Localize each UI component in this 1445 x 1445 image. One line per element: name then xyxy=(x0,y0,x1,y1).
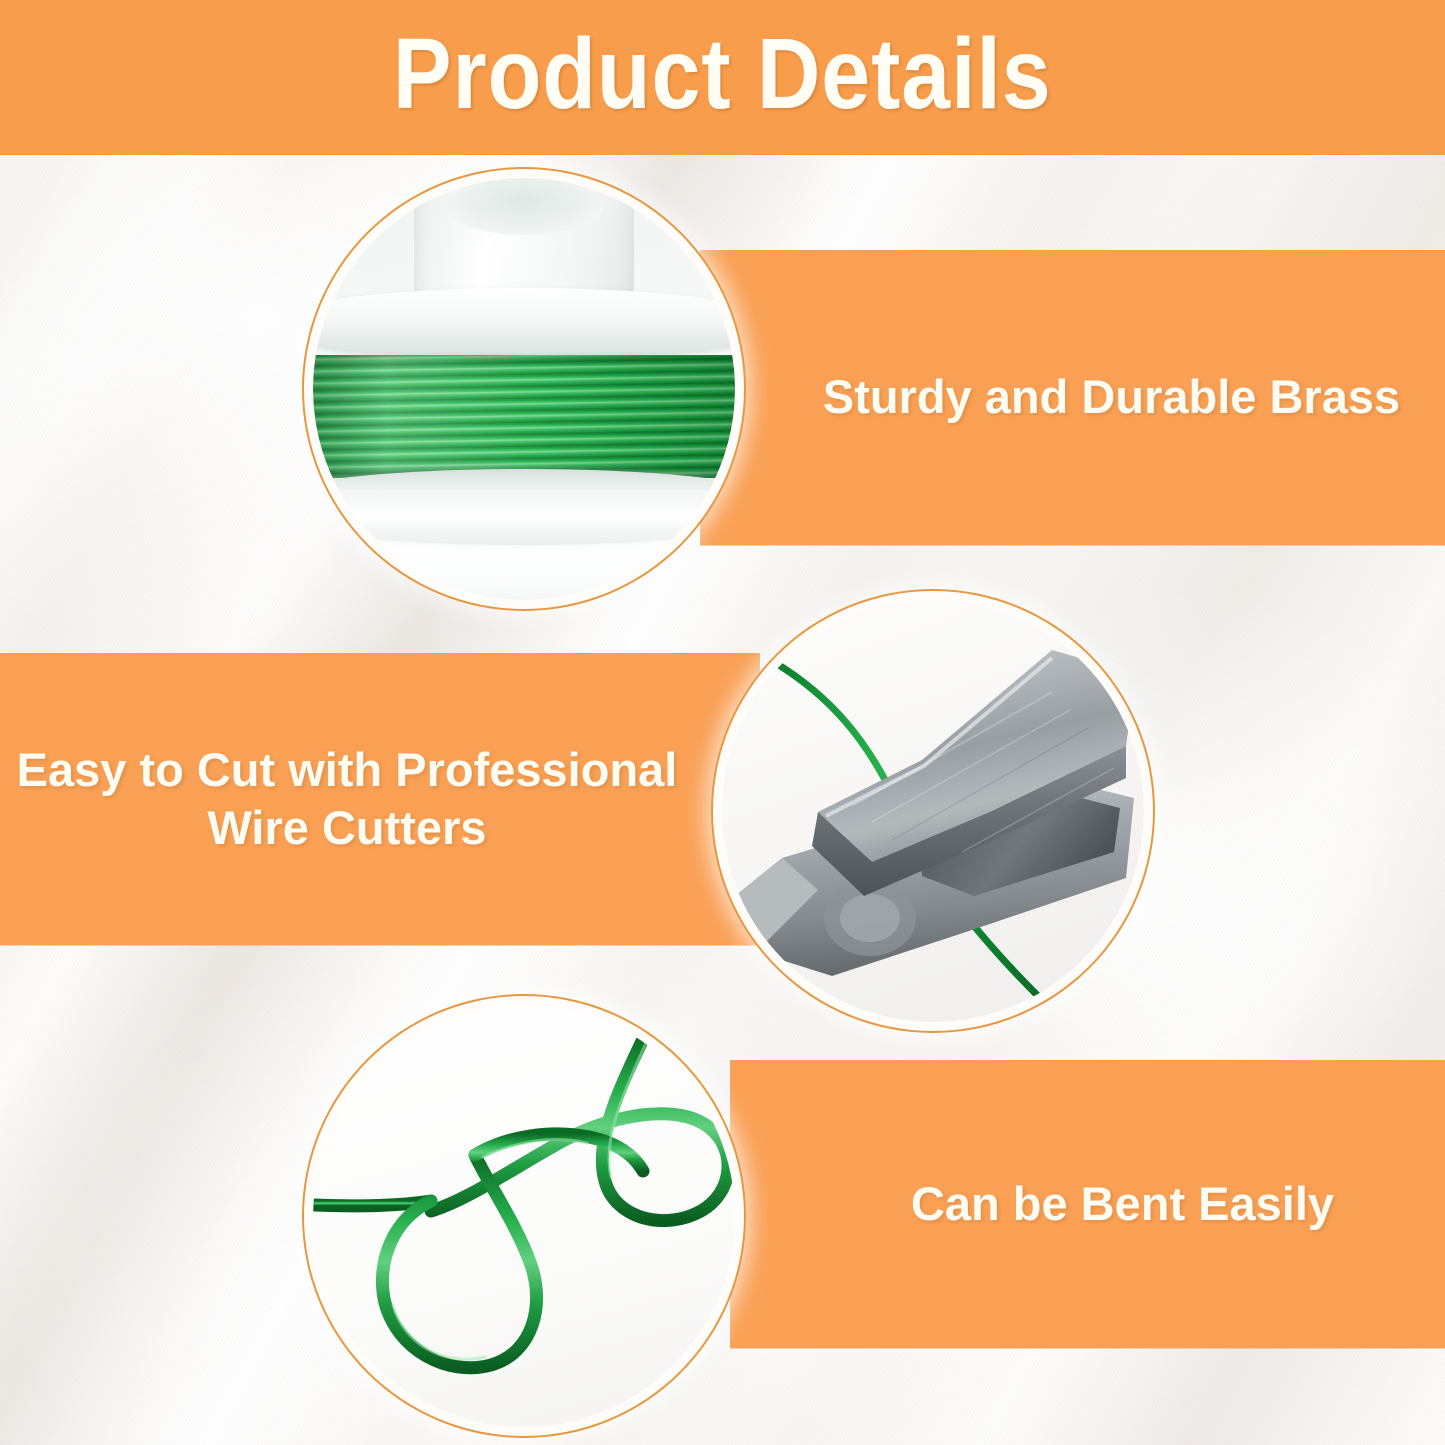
feature-banner-3: Can be Bent Easily xyxy=(730,1060,1445,1348)
pliers-pivot-hole xyxy=(840,894,900,942)
feature-banner-2: Easy to Cut with Professional Wire Cutte… xyxy=(0,653,760,945)
wire-cutters-cutting-wire-icon xyxy=(722,600,1144,1022)
feature-label-1: Sturdy and Durable Brass xyxy=(745,368,1400,426)
green-wire-spool-closeup-icon xyxy=(313,178,735,600)
feature-label-2: Easy to Cut with Professional Wire Cutte… xyxy=(0,741,760,858)
header-banner: Product Details xyxy=(0,0,1445,155)
bent-wire-illustration xyxy=(313,1005,735,1427)
feature-image-wire-cutters xyxy=(722,600,1144,1022)
bent-green-wire-loops-icon xyxy=(313,1005,735,1427)
feature-label-3: Can be Bent Easily xyxy=(841,1175,1334,1233)
feature-image-green-wire-spool xyxy=(313,178,735,600)
wire-lower-loop xyxy=(382,1155,536,1368)
feature-banner-1: Sturdy and Durable Brass xyxy=(700,250,1445,545)
spool-base xyxy=(313,549,735,600)
spool-bottom-flange xyxy=(313,469,735,545)
wire-right-loop xyxy=(431,1035,728,1221)
spool-top-flange xyxy=(313,288,735,360)
green-wire-coil xyxy=(313,355,735,477)
feature-image-bent-wire xyxy=(313,1005,735,1427)
page-title: Product Details xyxy=(393,24,1052,132)
pliers-illustration xyxy=(722,600,1144,1022)
product-details-infographic: Product Details Sturdy and Durable Brass… xyxy=(0,0,1445,1445)
